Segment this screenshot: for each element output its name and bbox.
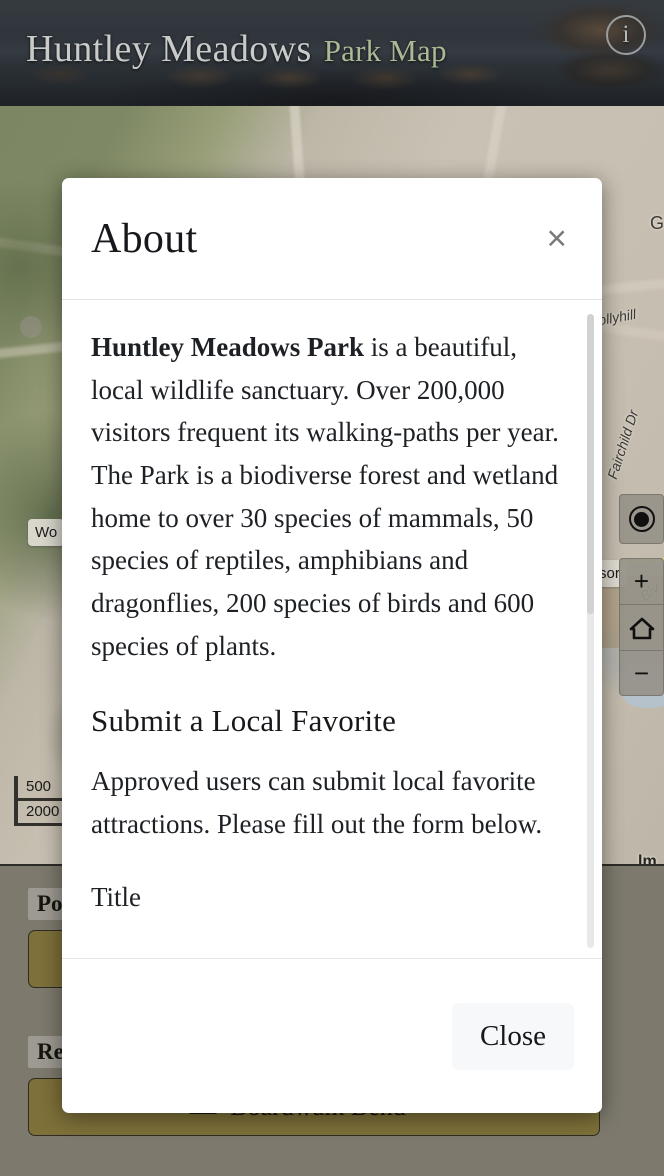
scrollbar-thumb[interactable] — [587, 314, 594, 614]
map-controls: + − — [619, 494, 664, 696]
submit-instructions: Approved users can submit local favorite… — [91, 760, 569, 845]
title-field-label: Title — [91, 876, 569, 919]
close-button[interactable]: Close — [452, 1003, 574, 1070]
home-extent-button[interactable] — [619, 604, 664, 650]
close-icon[interactable]: × — [541, 217, 573, 260]
page-title-sub: Park Map — [324, 33, 447, 68]
map-marker-dot[interactable] — [20, 316, 42, 338]
map-label-lm: lm — [638, 853, 657, 864]
modal-header: About × — [62, 178, 602, 300]
modal-title: About — [91, 215, 198, 263]
info-circle-icon[interactable]: i — [606, 15, 646, 55]
map-label-g: G — [650, 213, 664, 234]
home-icon — [629, 616, 655, 640]
zoom-out-button[interactable]: − — [619, 650, 664, 696]
locate-icon — [629, 506, 655, 532]
app-header: Huntley MeadowsPark Map i — [0, 0, 664, 106]
zoom-in-button[interactable]: + — [619, 558, 664, 604]
park-map-app: G Deer R Vantag ollyhill Fairchild Dr Bl… — [0, 0, 664, 1176]
about-modal: About × Huntley Meadows Park is a beauti… — [62, 178, 602, 1113]
modal-footer: Close — [62, 958, 602, 1113]
scrollbar-track[interactable] — [587, 314, 594, 948]
locate-me-button[interactable] — [619, 494, 664, 544]
section-heading-submit-favorite: Submit a Local Favorite — [91, 697, 569, 746]
about-paragraph-bold: Huntley Meadows Park — [91, 332, 364, 362]
map-chip-wo[interactable]: Wo — [28, 519, 64, 546]
page-title-main: Huntley Meadows — [26, 28, 312, 70]
about-paragraph: Huntley Meadows Park is a beautiful, loc… — [91, 326, 569, 667]
about-paragraph-rest: is a beautiful, local wildlife sanctuary… — [91, 332, 559, 661]
scale-label-bottom: 2000 — [26, 801, 59, 823]
modal-body: Huntley Meadows Park is a beautiful, loc… — [62, 300, 602, 958]
scale-label-top: 500 — [26, 776, 51, 798]
page-title: Huntley MeadowsPark Map — [26, 27, 447, 71]
